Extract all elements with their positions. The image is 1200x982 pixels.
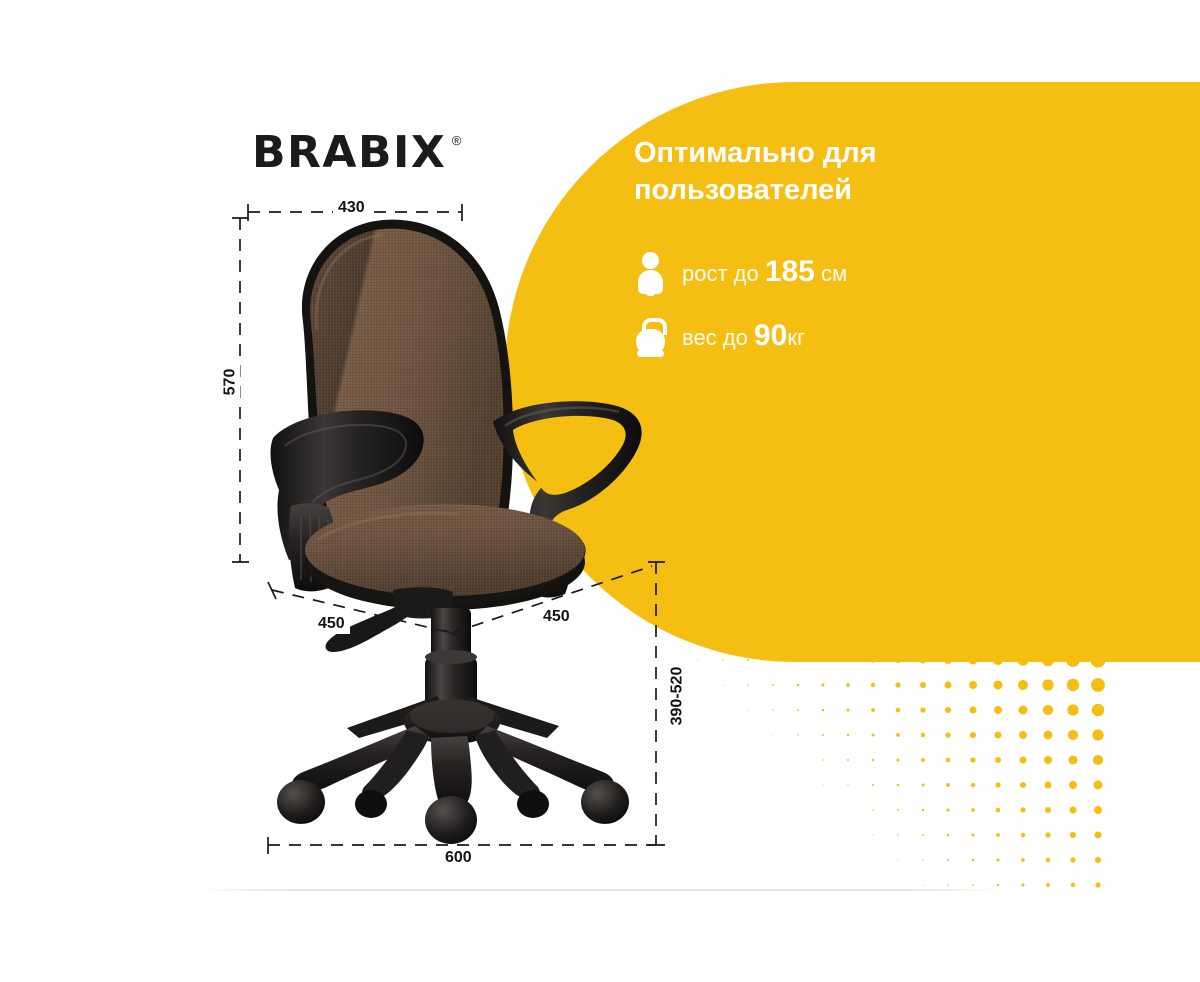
- dimension-label-430: 430: [333, 198, 370, 218]
- dimension-label-600: 600: [440, 848, 477, 868]
- dimension-label-390-520: 390-520: [667, 662, 687, 731]
- dimension-label-450-width: 450: [538, 607, 575, 627]
- bottom-divider: [200, 889, 1000, 891]
- infographic-canvas: BRABIX ® Оптимально для пользователей ро…: [0, 0, 1200, 982]
- dimension-label-570: 570: [220, 364, 240, 401]
- dimline-450-depth: [272, 590, 452, 633]
- dimension-lines: [0, 0, 1200, 982]
- dimension-label-450-depth: 450: [313, 614, 350, 634]
